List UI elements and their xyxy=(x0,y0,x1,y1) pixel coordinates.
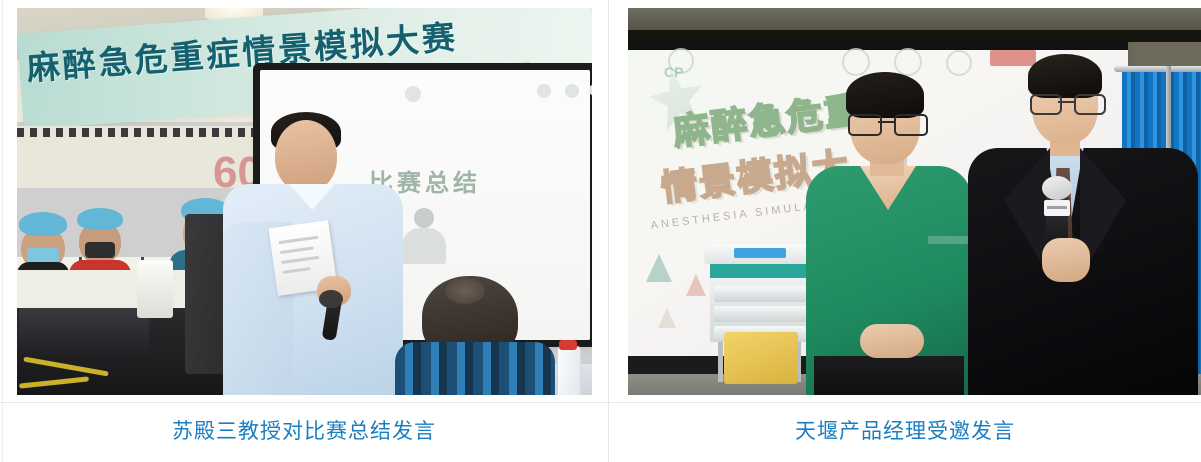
gallery-item-left[interactable]: 麻醉急危重症情景模拟大赛 xyxy=(0,0,608,462)
av-equipment xyxy=(19,308,149,356)
suit-man-glasses xyxy=(1030,94,1102,111)
water-bottle-cap xyxy=(559,340,577,350)
scrubs-man-glasses xyxy=(848,114,924,132)
scrubs-man-chest-pocket xyxy=(928,236,968,244)
water-bottle xyxy=(557,346,581,395)
scrubs-man-trousers xyxy=(814,356,964,395)
speaker-head xyxy=(275,120,337,192)
slide-icon-1 xyxy=(405,86,421,102)
microphone-head-right xyxy=(1042,176,1072,200)
slide-portrait xyxy=(397,208,451,266)
caption-left: 苏殿三教授对比赛总结发言 xyxy=(0,418,608,446)
scrubs-man-clasped-hands xyxy=(860,324,924,358)
foreground-viewer-plaid-shirt xyxy=(395,342,555,395)
white-equipment-box xyxy=(137,260,173,318)
photo-right[interactable]: CP 麻醉急危重 情景模拟大 ANESTHESIA SIMULATION CON… xyxy=(628,8,1201,395)
gallery-page: 麻醉急危重症情景模拟大赛 xyxy=(0,0,1201,462)
gallery-item-right[interactable]: CP 麻醉急危重 情景模拟大 ANESTHESIA SIMULATION CON… xyxy=(609,0,1201,462)
microphone-head-left xyxy=(319,290,343,308)
photo-left[interactable]: 麻醉急危重症情景模拟大赛 xyxy=(17,8,592,395)
curtain-rail xyxy=(1114,66,1201,72)
ceiling-beam xyxy=(628,30,1201,42)
sponsor-logo-2 xyxy=(842,48,870,76)
scrubs-man-hair xyxy=(846,72,924,118)
microphone-flag xyxy=(1044,200,1070,216)
slide-icon-2 xyxy=(537,84,551,98)
slide-icon-3 xyxy=(565,84,579,98)
suit-man-hand xyxy=(1042,238,1090,282)
yellow-container xyxy=(724,332,798,384)
suit-man-hair xyxy=(1028,54,1102,98)
foreground-viewer-crown xyxy=(445,278,485,304)
caption-right: 天堰产品经理受邀发言 xyxy=(609,418,1201,446)
backdrop-top-bar xyxy=(628,42,1128,50)
sponsor-logo-3 xyxy=(894,48,922,76)
